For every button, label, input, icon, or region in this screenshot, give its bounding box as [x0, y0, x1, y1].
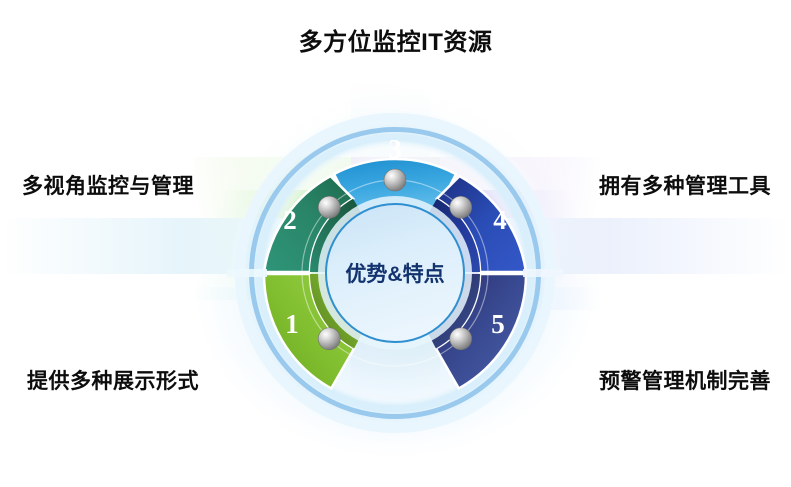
segment-2-number: 2 — [283, 205, 297, 235]
marker-sphere-1[interactable] — [318, 328, 340, 350]
label-segment-2: 多视角监控与管理 — [22, 170, 194, 200]
label-segment-1: 提供多种展示形式 — [27, 365, 199, 395]
marker-sphere-2[interactable] — [318, 196, 340, 218]
page-title: 多方位监控IT资源 — [0, 22, 791, 57]
segment-3-number: 3 — [388, 134, 402, 164]
divider-right — [523, 269, 563, 277]
label-segment-4: 拥有多种管理工具 — [599, 170, 771, 200]
infographic-canvas: 多方位监控IT资源 多视角监控与管理 拥有多种管理工具 提供多种展示形式 预警管… — [0, 0, 791, 487]
donut-diagram: 3 2 1 4 5 — [227, 105, 563, 441]
segment-5-number: 5 — [491, 309, 505, 339]
label-segment-5: 预警管理机制完善 — [599, 365, 771, 395]
segment-1-number: 1 — [285, 309, 299, 339]
center-label: 优势&特点 — [345, 262, 444, 286]
marker-sphere-5[interactable] — [450, 328, 472, 350]
segment-4-number: 4 — [493, 205, 507, 235]
marker-sphere-3[interactable] — [384, 169, 406, 191]
marker-sphere-4[interactable] — [450, 196, 472, 218]
divider-left — [227, 269, 267, 277]
